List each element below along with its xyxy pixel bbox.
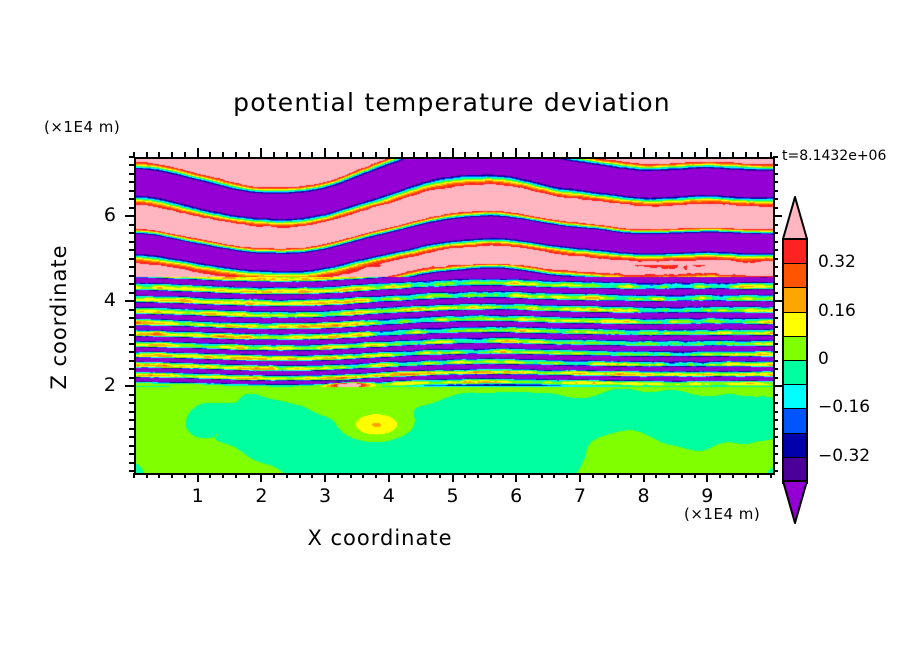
colorbar-swatch (784, 337, 806, 361)
y-axis-minor-tick (129, 249, 134, 251)
x-axis-minor-tick (490, 473, 492, 478)
x-axis-tick-label: 1 (178, 485, 218, 507)
y-axis-minor-tick (129, 351, 134, 353)
y-axis-minor-tick (773, 181, 778, 183)
x-axis-minor-tick (184, 473, 186, 478)
x-axis-minor-tick (299, 152, 301, 157)
x-axis-title: X coordinate (0, 526, 760, 550)
x-axis-minor-tick (413, 152, 415, 157)
x-axis-minor-tick (477, 473, 479, 478)
y-axis-minor-tick (129, 334, 134, 336)
y-axis-minor-tick (129, 198, 134, 200)
x-axis-minor-tick (694, 152, 696, 157)
y-axis-minor-tick (129, 360, 134, 362)
x-axis-major-tick (706, 148, 708, 157)
x-axis-major-tick (579, 148, 581, 157)
x-axis-minor-tick (566, 473, 568, 478)
y-axis-minor-tick (129, 326, 134, 328)
y-axis-minor-tick (129, 173, 134, 175)
x-axis-minor-tick (362, 152, 364, 157)
x-axis-minor-tick (273, 152, 275, 157)
x-axis-minor-tick (350, 152, 352, 157)
y-axis-minor-tick (129, 428, 134, 430)
x-axis-minor-tick (553, 473, 555, 478)
y-axis-minor-tick (129, 419, 134, 421)
x-axis-major-tick (197, 473, 199, 482)
y-axis-minor-tick (129, 453, 134, 455)
x-axis-minor-tick (235, 152, 237, 157)
y-axis-tick-label: 4 (86, 289, 116, 311)
y-axis-major-tick (125, 385, 134, 387)
x-axis-minor-tick (502, 473, 504, 478)
x-axis-minor-tick (757, 152, 759, 157)
colorbar-swatch (784, 458, 806, 482)
x-axis-tick-label: 3 (305, 485, 345, 507)
x-axis-tick-label: 2 (241, 485, 281, 507)
x-axis-minor-tick (171, 473, 173, 478)
x-axis-major-tick (452, 473, 454, 482)
x-axis-major-tick (388, 148, 390, 157)
colorbar-swatch (784, 313, 806, 337)
y-axis-tick-label: 2 (86, 374, 116, 396)
x-axis-minor-tick (668, 473, 670, 478)
y-axis-minor-tick (129, 283, 134, 285)
y-axis-minor-tick (129, 436, 134, 438)
y-axis-minor-tick (129, 394, 134, 396)
x-axis-minor-tick (375, 473, 377, 478)
x-axis-minor-tick (502, 152, 504, 157)
x-axis-minor-tick (528, 473, 530, 478)
colorbar-swatch (784, 409, 806, 433)
y-axis-minor-tick (129, 462, 134, 464)
x-axis-minor-tick (401, 473, 403, 478)
x-axis-minor-tick (439, 152, 441, 157)
x-axis-minor-tick (566, 152, 568, 157)
x-axis-minor-tick (668, 152, 670, 157)
x-axis-minor-tick (426, 152, 428, 157)
x-axis-tick-label: 4 (369, 485, 409, 507)
x-axis-minor-tick (617, 473, 619, 478)
y-axis-minor-tick (129, 343, 134, 345)
y-axis-minor-tick (129, 275, 134, 277)
x-axis-minor-tick (286, 473, 288, 478)
x-axis-major-tick (197, 148, 199, 157)
colorbar-swatch (784, 288, 806, 312)
x-axis-minor-tick (770, 152, 772, 157)
y-axis-minor-tick (129, 241, 134, 243)
y-axis-minor-tick (129, 164, 134, 166)
x-axis-minor-tick (681, 473, 683, 478)
page-title: potential temperature deviation (0, 88, 904, 117)
x-axis-tick-label: 9 (687, 485, 727, 507)
y-axis-minor-tick (129, 232, 134, 234)
x-axis-minor-tick (694, 473, 696, 478)
y-axis-major-tick (125, 215, 134, 217)
x-axis-minor-tick (146, 152, 148, 157)
x-axis-minor-tick (209, 152, 211, 157)
colorbar-under-arrow-icon (782, 480, 808, 524)
x-axis-minor-tick (350, 473, 352, 478)
y-axis-unit-label: (×1E4 m) (44, 118, 120, 136)
y-axis-minor-tick (773, 156, 778, 158)
y-axis-title: Z coordinate (47, 222, 71, 412)
x-axis-minor-tick (528, 152, 530, 157)
x-axis-minor-tick (209, 473, 211, 478)
x-axis-tick-label: 8 (624, 485, 664, 507)
x-axis-tick-label: 7 (560, 485, 600, 507)
x-axis-major-tick (388, 473, 390, 482)
x-axis-minor-tick (222, 473, 224, 478)
colorbar-swatch (784, 361, 806, 385)
x-axis-minor-tick (757, 473, 759, 478)
x-axis-minor-tick (592, 473, 594, 478)
x-axis-minor-tick (732, 152, 734, 157)
x-axis-minor-tick (541, 152, 543, 157)
x-axis-major-tick (324, 473, 326, 482)
y-axis-minor-tick (129, 156, 134, 158)
x-axis-tick-label: 5 (433, 485, 473, 507)
x-axis-minor-tick (337, 473, 339, 478)
x-axis-minor-tick (770, 473, 772, 478)
x-axis-unit-label: (×1E4 m) (684, 505, 760, 523)
y-axis-major-tick (125, 300, 134, 302)
x-axis-minor-tick (171, 152, 173, 157)
contour-field-canvas (136, 159, 773, 473)
x-axis-minor-tick (235, 473, 237, 478)
x-axis-major-tick (515, 473, 517, 482)
x-axis-major-tick (643, 473, 645, 482)
x-axis-minor-tick (184, 152, 186, 157)
x-axis-major-tick (452, 148, 454, 157)
plot-area (134, 157, 775, 475)
x-axis-minor-tick (311, 473, 313, 478)
x-axis-minor-tick (222, 152, 224, 157)
x-axis-major-tick (324, 148, 326, 157)
x-axis-minor-tick (604, 473, 606, 478)
x-axis-minor-tick (286, 152, 288, 157)
x-axis-minor-tick (630, 473, 632, 478)
x-axis-minor-tick (630, 152, 632, 157)
y-axis-tick-label: 6 (86, 204, 116, 226)
y-axis-minor-tick (129, 309, 134, 311)
x-axis-minor-tick (681, 152, 683, 157)
colorbar-tick-label: 0 (818, 349, 829, 369)
x-axis-minor-tick (337, 152, 339, 157)
x-axis-major-tick (579, 473, 581, 482)
colorbar-swatch (784, 240, 806, 264)
colorbar-tick-label: −0.32 (818, 446, 870, 466)
y-axis-minor-tick (129, 207, 134, 209)
x-axis-minor-tick (655, 152, 657, 157)
x-axis-minor-tick (133, 473, 135, 478)
x-axis-minor-tick (158, 152, 160, 157)
x-axis-minor-tick (362, 473, 364, 478)
y-axis-minor-tick (129, 411, 134, 413)
x-axis-minor-tick (490, 152, 492, 157)
colorbar-swatch (784, 264, 806, 288)
x-axis-minor-tick (464, 473, 466, 478)
x-axis-minor-tick (719, 473, 721, 478)
x-axis-minor-tick (553, 152, 555, 157)
colorbar: 0.320.160−0.16−0.32 (778, 196, 902, 522)
x-axis-minor-tick (426, 473, 428, 478)
y-axis-minor-tick (129, 368, 134, 370)
x-axis-major-tick (260, 148, 262, 157)
x-axis-minor-tick (273, 473, 275, 478)
y-axis-minor-tick (773, 164, 778, 166)
x-axis-minor-tick (158, 473, 160, 478)
y-axis-minor-tick (773, 173, 778, 175)
x-axis-minor-tick (592, 152, 594, 157)
colorbar-tick-label: 0.32 (818, 252, 856, 272)
x-axis-minor-tick (311, 152, 313, 157)
x-axis-tick-label: 6 (496, 485, 536, 507)
colorbar-tick-label: 0.16 (818, 301, 856, 321)
x-axis-major-tick (643, 148, 645, 157)
y-axis-minor-tick (129, 470, 134, 472)
colorbar-swatch (784, 434, 806, 458)
x-axis-minor-tick (299, 473, 301, 478)
time-annotation: t=8.1432e+06 (782, 148, 886, 164)
x-axis-minor-tick (745, 473, 747, 478)
x-axis-minor-tick (745, 152, 747, 157)
x-axis-major-tick (706, 473, 708, 482)
x-axis-minor-tick (477, 152, 479, 157)
x-axis-minor-tick (464, 152, 466, 157)
x-axis-minor-tick (439, 473, 441, 478)
x-axis-minor-tick (604, 152, 606, 157)
colorbar-swatch (784, 385, 806, 409)
y-axis-minor-tick (129, 402, 134, 404)
y-axis-minor-tick (129, 377, 134, 379)
y-axis-minor-tick (129, 224, 134, 226)
x-axis-major-tick (260, 473, 262, 482)
x-axis-minor-tick (248, 473, 250, 478)
y-axis-minor-tick (129, 266, 134, 268)
colorbar-over-arrow-icon (782, 196, 808, 240)
x-axis-minor-tick (146, 473, 148, 478)
y-axis-minor-tick (129, 317, 134, 319)
y-axis-minor-tick (129, 258, 134, 260)
y-axis-minor-tick (773, 190, 778, 192)
x-axis-minor-tick (248, 152, 250, 157)
colorbar-swatches (782, 238, 808, 484)
x-axis-minor-tick (375, 152, 377, 157)
y-axis-minor-tick (129, 181, 134, 183)
x-axis-minor-tick (655, 473, 657, 478)
x-axis-minor-tick (541, 473, 543, 478)
x-axis-major-tick (515, 148, 517, 157)
y-axis-minor-tick (129, 292, 134, 294)
x-axis-minor-tick (719, 152, 721, 157)
x-axis-minor-tick (401, 152, 403, 157)
y-axis-minor-tick (129, 190, 134, 192)
y-axis-minor-tick (129, 445, 134, 447)
x-axis-minor-tick (617, 152, 619, 157)
x-axis-minor-tick (732, 473, 734, 478)
x-axis-minor-tick (413, 473, 415, 478)
colorbar-tick-label: −0.16 (818, 397, 870, 417)
